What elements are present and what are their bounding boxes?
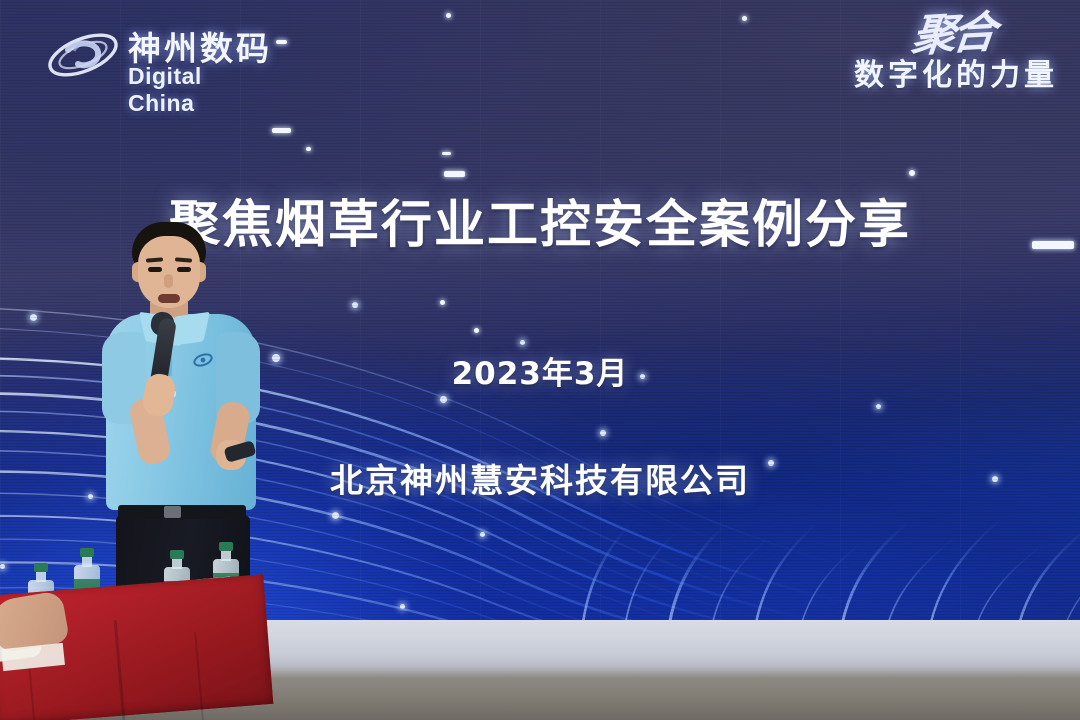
sparkle-particle — [444, 171, 465, 177]
speaker-mouth — [158, 294, 180, 303]
bokeh-particle — [520, 340, 525, 345]
bokeh-particle — [352, 302, 358, 308]
bokeh-particle — [876, 404, 881, 409]
sparkle-particle — [742, 16, 747, 21]
speaker-eye-right — [177, 267, 191, 272]
event-slogan: 聚合 数字化的力量 — [808, 14, 1058, 110]
bokeh-particle — [332, 512, 339, 519]
bottle-cap — [34, 563, 48, 572]
bottle-cap — [170, 550, 184, 559]
digital-china-logo: 神州数码 Digital China — [44, 18, 274, 96]
speaker-belt-buckle — [164, 506, 181, 518]
bottle-cap — [80, 548, 94, 557]
sparkle-particle — [272, 128, 291, 133]
bokeh-particle — [0, 564, 5, 569]
digital-china-english-name: Digital China — [128, 63, 274, 117]
bokeh-particle — [440, 396, 447, 403]
speaker-nose — [164, 274, 173, 288]
conference-stage-photo: 神州数码 Digital China 聚合 数字化的力量 聚焦烟草行业工控安全案… — [0, 0, 1080, 720]
slogan-brush-text: 聚合 — [910, 12, 995, 58]
sparkle-particle — [306, 147, 311, 151]
sparkle-particle — [909, 170, 915, 176]
sparkle-particle — [446, 13, 451, 18]
speaker-belt — [118, 505, 246, 519]
digital-china-swirl-icon — [44, 24, 122, 86]
bokeh-particle — [400, 604, 405, 609]
speaker-eye-left — [148, 267, 162, 272]
bokeh-particle — [30, 314, 37, 321]
speaker-chest-logo-icon — [192, 350, 214, 370]
sparkle-particle — [440, 300, 445, 305]
sparkle-particle — [442, 152, 451, 155]
bottle-cap — [219, 542, 233, 551]
sparkle-particle — [474, 328, 479, 333]
bokeh-particle — [480, 532, 485, 537]
sparkle-particle — [276, 40, 287, 44]
bokeh-particle — [600, 430, 606, 436]
